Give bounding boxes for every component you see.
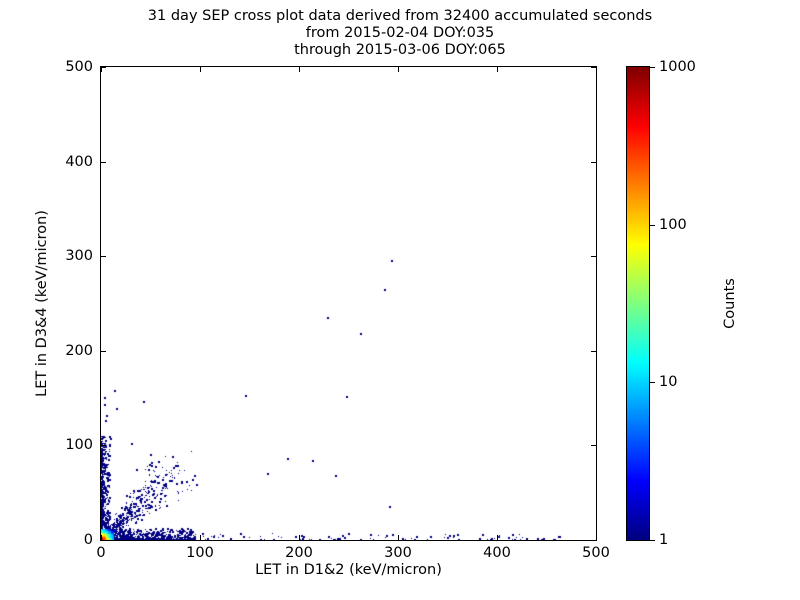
colorbar-tick-1000 xyxy=(650,67,655,68)
x-tick-top-400 xyxy=(497,67,498,72)
chart-title-line-2: from 2015-02-04 DOY:035 xyxy=(0,25,800,42)
y-tick-label-100: 100 xyxy=(38,437,93,453)
y-tick-label-400: 400 xyxy=(38,154,93,170)
colorbar-tick-label-10: 10 xyxy=(659,374,677,390)
x-tick-label-0: 0 xyxy=(96,545,105,561)
chart-title-line-1: 31 day SEP cross plot data derived from … xyxy=(0,8,800,25)
y-tick-500 xyxy=(101,67,106,68)
x-tick-label-400: 400 xyxy=(483,545,511,561)
y-tick-right-400 xyxy=(591,162,596,163)
y-tick-label-500: 500 xyxy=(38,59,93,75)
y-tick-label-0: 0 xyxy=(38,532,93,548)
plot-area xyxy=(100,66,597,541)
x-tick-400 xyxy=(497,535,498,540)
x-tick-label-300: 300 xyxy=(384,545,412,561)
colorbar-gradient xyxy=(626,66,650,541)
x-tick-200 xyxy=(299,535,300,540)
colorbar: 1101001000 xyxy=(626,66,650,541)
x-tick-label-200: 200 xyxy=(285,545,313,561)
y-tick-right-300 xyxy=(591,256,596,257)
chart-title-line-3: through 2015-03-06 DOY:065 xyxy=(0,42,800,59)
y-tick-right-100 xyxy=(591,445,596,446)
scatter-plot-figure: 31 day SEP cross plot data derived from … xyxy=(0,0,800,600)
x-tick-top-200 xyxy=(299,67,300,72)
y-tick-100 xyxy=(101,445,106,446)
x-tick-label-500: 500 xyxy=(582,545,610,561)
y-tick-300 xyxy=(101,256,106,257)
x-tick-300 xyxy=(398,535,399,540)
y-tick-400 xyxy=(101,162,106,163)
x-axis-label: LET in D1&2 (keV/micron) xyxy=(100,562,597,578)
y-tick-right-0 xyxy=(591,540,596,541)
y-axis-label: LET in D3&4 (keV/micron) xyxy=(34,210,50,397)
colorbar-tick-10 xyxy=(650,382,655,383)
x-tick-label-100: 100 xyxy=(186,545,214,561)
x-tick-100 xyxy=(200,535,201,540)
y-tick-200 xyxy=(101,351,106,352)
colorbar-tick-label-100: 100 xyxy=(659,217,687,233)
colorbar-tick-label-1: 1 xyxy=(659,532,668,548)
colorbar-tick-label-1000: 1000 xyxy=(659,59,696,75)
scatter-points-canvas xyxy=(101,67,596,540)
y-tick-right-200 xyxy=(591,351,596,352)
x-tick-top-500 xyxy=(596,67,597,72)
y-tick-right-500 xyxy=(591,67,596,68)
x-tick-500 xyxy=(596,535,597,540)
colorbar-tick-1 xyxy=(650,540,655,541)
chart-title: 31 day SEP cross plot data derived from … xyxy=(0,8,800,59)
colorbar-tick-100 xyxy=(650,225,655,226)
x-tick-top-300 xyxy=(398,67,399,72)
x-tick-top-100 xyxy=(200,67,201,72)
y-tick-0 xyxy=(101,540,106,541)
colorbar-label: Counts xyxy=(722,278,738,329)
